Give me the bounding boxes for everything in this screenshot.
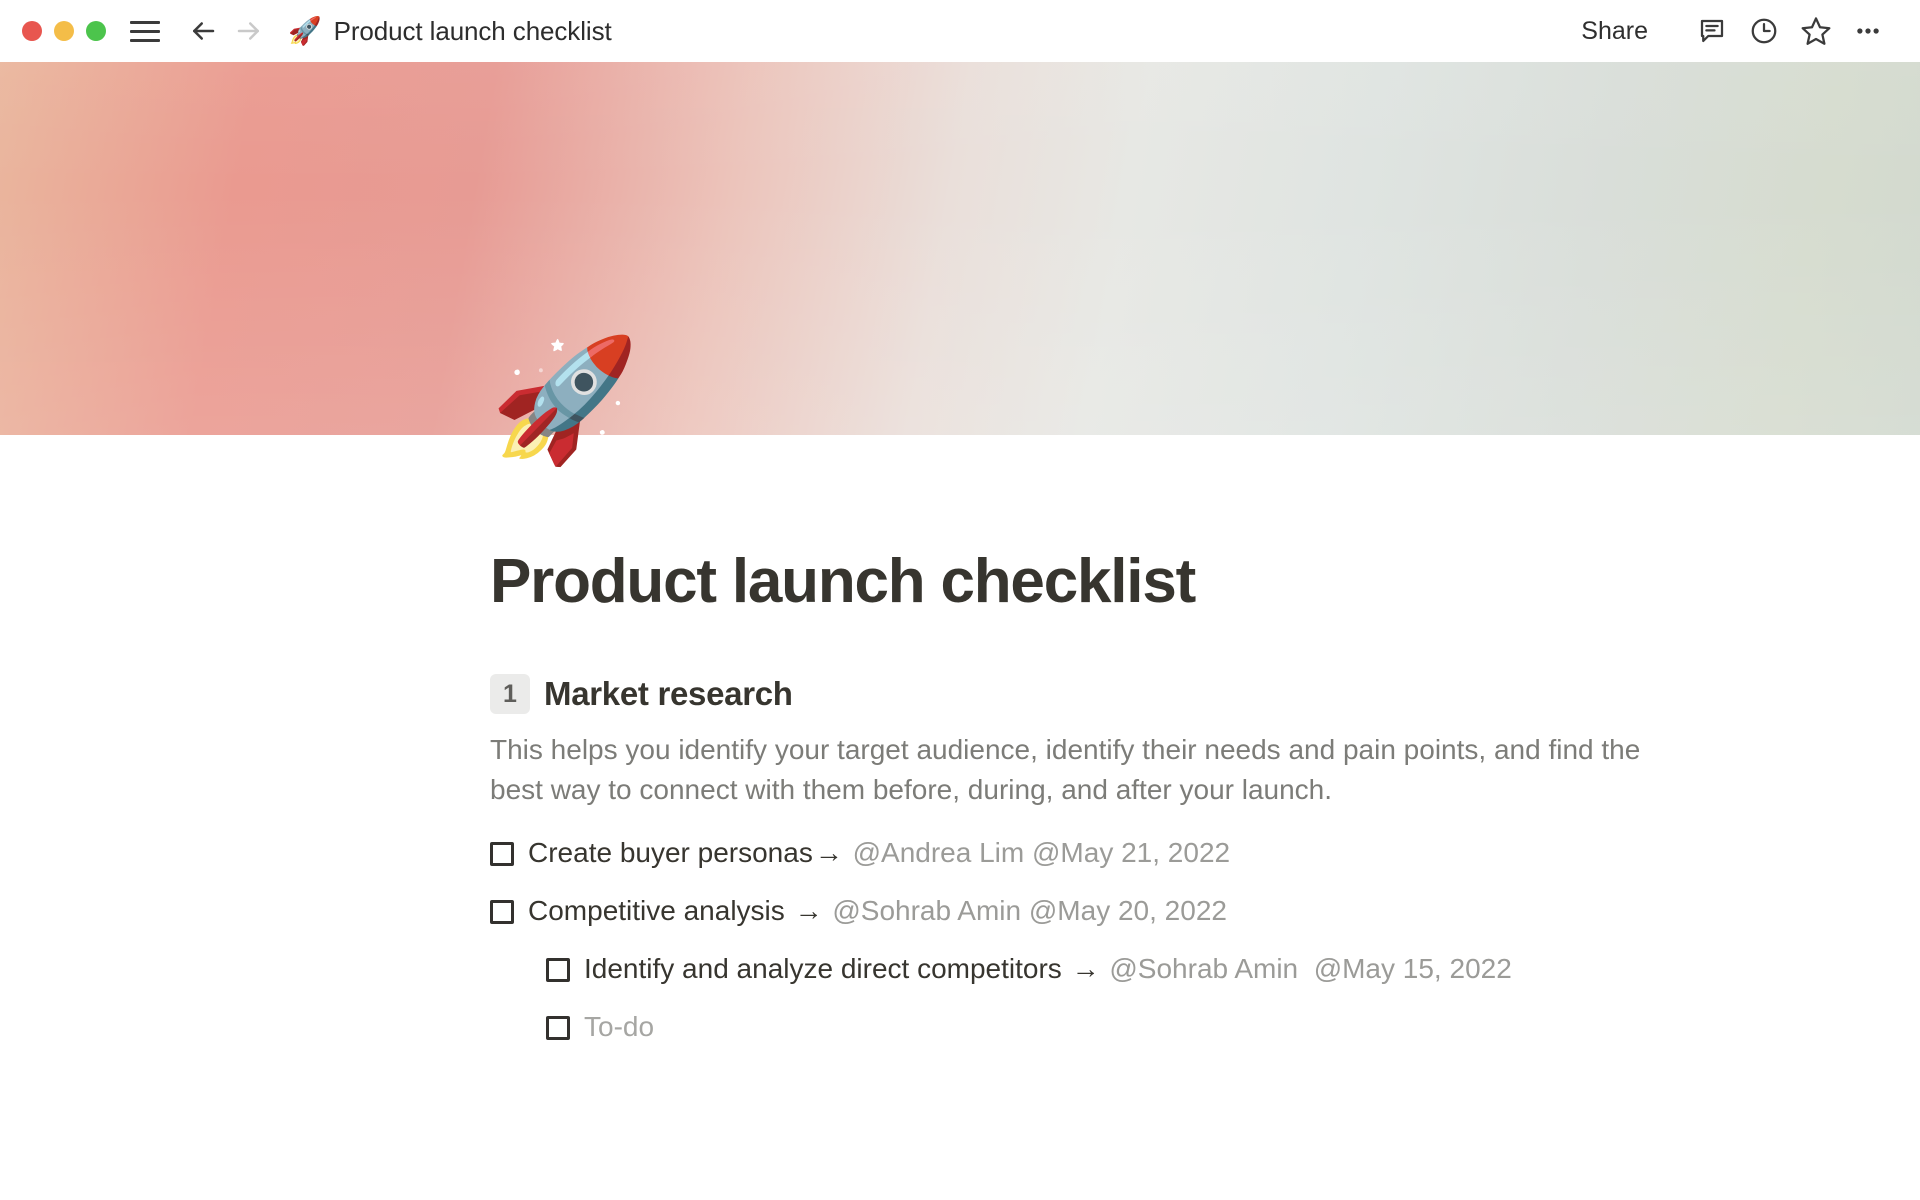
- todo-content[interactable]: Create buyer personas→ @Andrea Lim @May …: [528, 835, 1230, 871]
- breadcrumb[interactable]: 🚀 Product launch checklist: [288, 16, 612, 47]
- todo-placeholder[interactable]: To-do: [584, 1009, 654, 1045]
- todo-checkbox[interactable]: [490, 842, 514, 866]
- todo-label: Create buyer personas: [528, 837, 813, 868]
- todo-label: Competitive analysis: [528, 895, 785, 926]
- arrow-left-icon[interactable]: [186, 14, 220, 48]
- page-title[interactable]: Product launch checklist: [235, 435, 1685, 616]
- window-titlebar: 🚀 Product launch checklist Share: [0, 0, 1920, 62]
- todo-checkbox[interactable]: [490, 900, 514, 924]
- hamburger-bar: [130, 30, 160, 33]
- hamburger-bar: [130, 21, 160, 24]
- page-content: 🚀 Product launch checklist 1 Market rese…: [235, 435, 1685, 1057]
- todo-label: Identify and analyze direct competitors: [584, 953, 1062, 984]
- maximize-window-button[interactable]: [86, 21, 106, 41]
- todo-assignee-mention[interactable]: @Sohrab Amin: [832, 895, 1021, 926]
- section-heading: 1 Market research: [235, 616, 1685, 714]
- todo-item-nested[interactable]: To-do: [490, 999, 1685, 1057]
- section-number-badge: 1: [490, 674, 530, 714]
- comment-bubble-icon[interactable]: [1686, 8, 1738, 54]
- todo-checkbox[interactable]: [546, 958, 570, 982]
- todo-assignee-mention[interactable]: @Andrea Lim: [853, 837, 1025, 868]
- arrow-right-icon[interactable]: [232, 14, 266, 48]
- rocket-icon: 🚀: [288, 18, 322, 45]
- page-body: 🚀 Product launch checklist 1 Market rese…: [0, 435, 1920, 1057]
- todo-content[interactable]: Competitive analysis → @Sohrab Amin @May…: [528, 893, 1227, 929]
- section-description[interactable]: This helps you identify your target audi…: [235, 714, 1685, 810]
- section-title[interactable]: Market research: [544, 675, 793, 713]
- ellipsis-icon[interactable]: [1842, 8, 1894, 54]
- hamburger-bar: [130, 39, 160, 42]
- star-icon[interactable]: [1790, 8, 1842, 54]
- todo-item[interactable]: Create buyer personas→ @Andrea Lim @May …: [490, 825, 1685, 883]
- close-window-button[interactable]: [22, 21, 42, 41]
- arrow-glyph: →: [813, 837, 845, 868]
- minimize-window-button[interactable]: [54, 21, 74, 41]
- todo-assignee-mention[interactable]: @Sohrab Amin: [1109, 953, 1298, 984]
- window-controls: [22, 21, 106, 41]
- page-rocket-icon[interactable]: 🚀: [490, 340, 639, 460]
- todo-list: Create buyer personas→ @Andrea Lim @May …: [235, 811, 1685, 1057]
- clock-history-icon[interactable]: [1738, 8, 1790, 54]
- todo-due-date-mention[interactable]: @May 15, 2022: [1314, 953, 1512, 984]
- todo-item[interactable]: Competitive analysis → @Sohrab Amin @May…: [490, 883, 1685, 941]
- todo-due-date-mention[interactable]: @May 20, 2022: [1029, 895, 1227, 926]
- todo-checkbox[interactable]: [546, 1016, 570, 1040]
- arrow-glyph: →: [793, 895, 825, 926]
- titlebar-actions: Share: [1567, 8, 1894, 54]
- todo-due-date-mention[interactable]: @May 21, 2022: [1032, 837, 1230, 868]
- hamburger-menu-icon[interactable]: [130, 19, 160, 43]
- todo-content[interactable]: Identify and analyze direct competitors …: [584, 951, 1512, 987]
- arrow-glyph: →: [1070, 953, 1102, 984]
- breadcrumb-title: Product launch checklist: [334, 16, 612, 47]
- share-button[interactable]: Share: [1567, 11, 1662, 52]
- todo-item-nested[interactable]: Identify and analyze direct competitors …: [490, 941, 1685, 999]
- cover-image[interactable]: [0, 62, 1920, 435]
